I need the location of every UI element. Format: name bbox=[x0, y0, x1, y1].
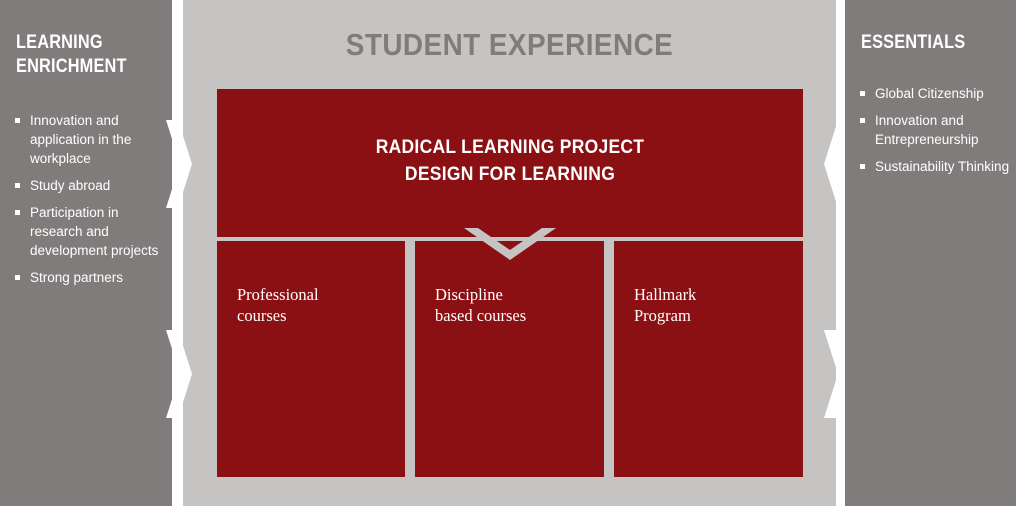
list-item: Study abroad bbox=[15, 176, 165, 195]
left-chevron-lower-icon bbox=[166, 330, 192, 418]
list-item: Global Citizenship bbox=[860, 84, 1012, 103]
hallmark-program-label: Hallmark Program bbox=[634, 284, 793, 326]
list-item-label: Sustainability Thinking bbox=[875, 159, 1009, 174]
professional-courses-label: Professional courses bbox=[237, 284, 395, 326]
essentials-panel: ESSENTIALS Global Citizenship Innovation… bbox=[845, 0, 1016, 506]
list-item: Strong partners bbox=[15, 268, 165, 287]
learning-enrichment-list: Innovation and application in the workpl… bbox=[15, 111, 165, 295]
radical-learning-project-title: RADICAL LEARNING PROJECT DESIGN FOR LEAR… bbox=[240, 134, 779, 188]
diagram-canvas: LEARNING ENRICHMENT Innovation and appli… bbox=[0, 0, 1016, 506]
list-item-label: Strong partners bbox=[30, 270, 123, 285]
list-item: Sustainability Thinking bbox=[860, 157, 1012, 176]
list-item-label: Participation in research and developmen… bbox=[30, 205, 158, 258]
discipline-based-courses-label: Discipline based courses bbox=[435, 284, 594, 326]
hallmark-program-box: Hallmark Program bbox=[614, 241, 803, 477]
list-item-label: Global Citizenship bbox=[875, 86, 984, 101]
bullet-square-icon bbox=[15, 275, 20, 280]
radical-learning-project-box: RADICAL LEARNING PROJECT DESIGN FOR LEAR… bbox=[217, 89, 803, 237]
student-experience-heading: STUDENT EXPERIENCE bbox=[216, 27, 804, 63]
professional-courses-box: Professional courses bbox=[217, 241, 405, 477]
bullet-square-icon bbox=[15, 118, 20, 123]
learning-enrichment-panel: LEARNING ENRICHMENT Innovation and appli… bbox=[0, 0, 172, 506]
list-item: Innovation and Entrepreneurship bbox=[860, 111, 1012, 149]
essentials-list: Global Citizenship Innovation and Entrep… bbox=[860, 84, 1012, 184]
essentials-heading: ESSENTIALS bbox=[861, 31, 1016, 55]
bullet-square-icon bbox=[860, 91, 865, 96]
bullet-square-icon bbox=[15, 183, 20, 188]
bullet-square-icon bbox=[15, 210, 20, 215]
left-chevron-upper-icon bbox=[166, 120, 192, 208]
list-item-label: Innovation and application in the workpl… bbox=[30, 113, 131, 166]
list-item: Innovation and application in the workpl… bbox=[15, 111, 165, 168]
center-down-chevron-icon bbox=[464, 228, 556, 260]
list-item: Participation in research and developmen… bbox=[15, 203, 165, 260]
list-item-label: Innovation and Entrepreneurship bbox=[875, 113, 979, 147]
learning-enrichment-heading: LEARNING ENRICHMENT bbox=[16, 31, 188, 79]
list-item-label: Study abroad bbox=[30, 178, 110, 193]
discipline-based-courses-box: Discipline based courses bbox=[415, 241, 604, 477]
bullet-square-icon bbox=[860, 118, 865, 123]
bullet-square-icon bbox=[860, 164, 865, 169]
